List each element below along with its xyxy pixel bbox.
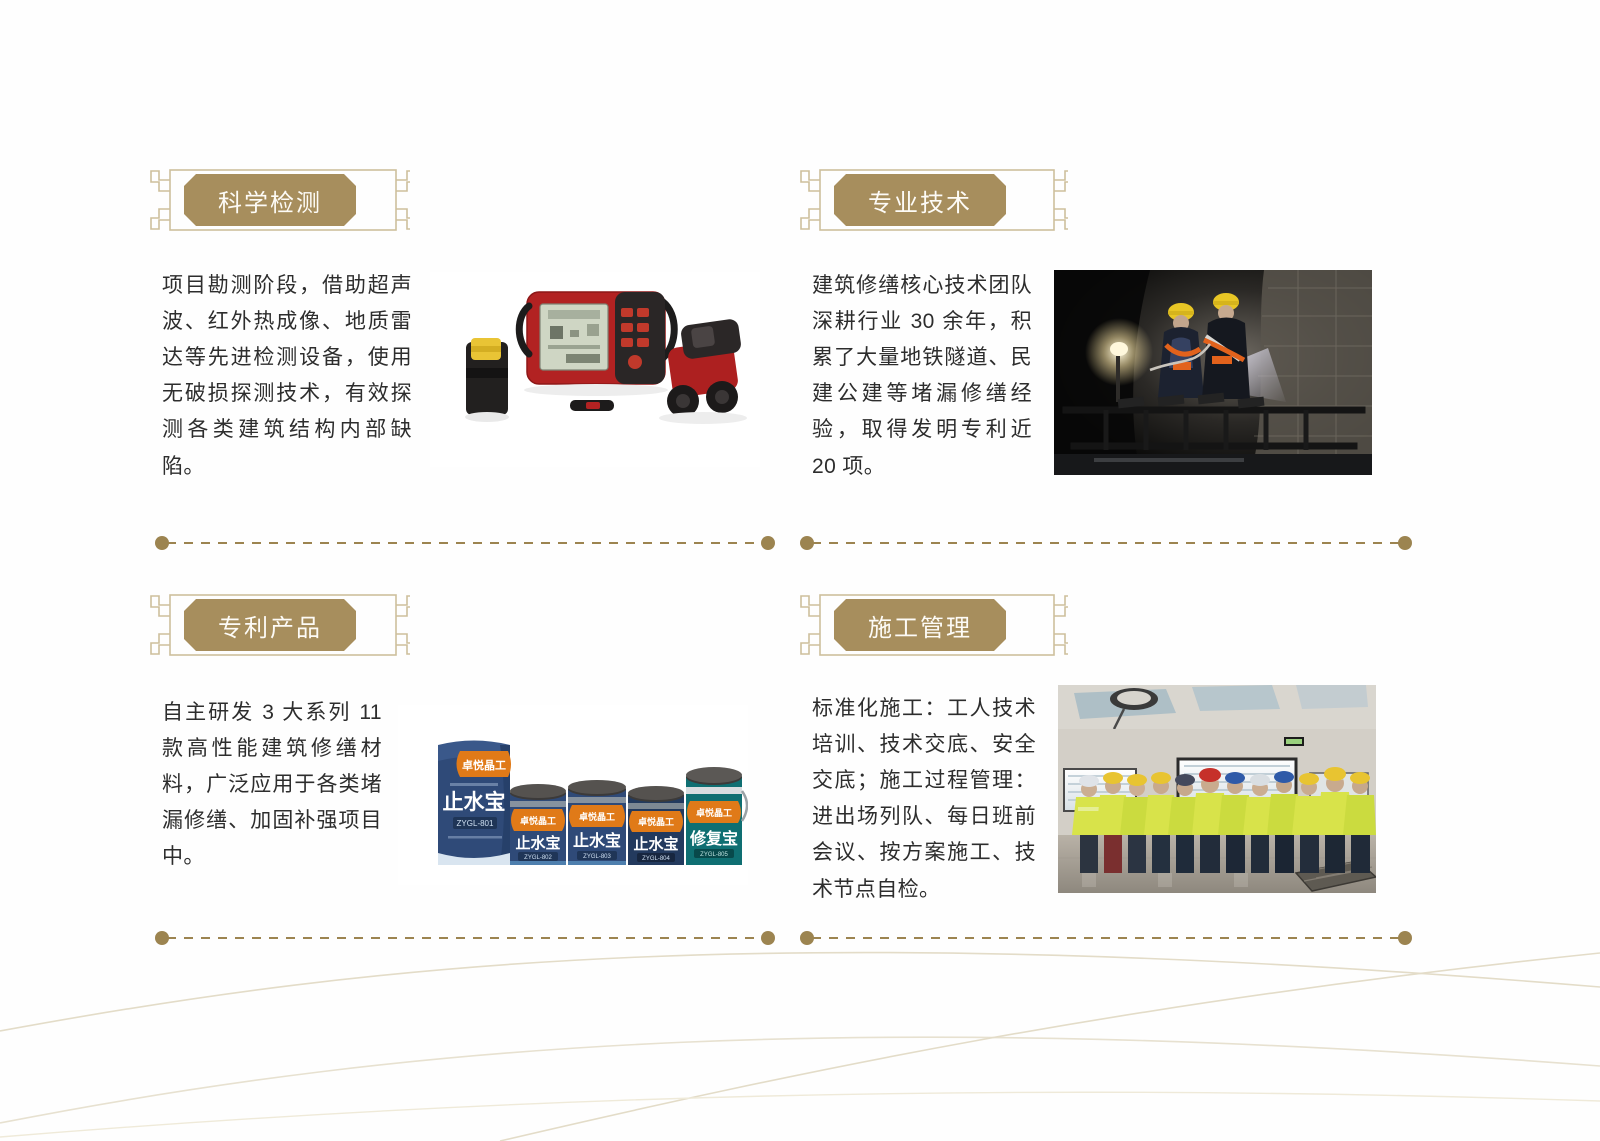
section-card-professional-technology: 专业技术 建筑修缮核心技术团队深耕行业 30 余年，积累了大量地铁隧道、民建公建… [800,160,1430,485]
svg-text:卓悦晶工: 卓悦晶工 [696,807,732,818]
section-header-patented-products: 专利产品 [150,585,780,665]
svg-text:止水宝: 止水宝 [633,835,678,853]
svg-text:ZYGL-805: ZYGL-805 [700,852,728,858]
svg-text:ZYGL-801: ZYGL-801 [457,819,494,828]
svg-text:卓悦晶工: 卓悦晶工 [520,815,556,826]
divider-dot-end [1398,931,1412,945]
divider-dot-end [761,931,775,945]
divider-dashes [167,937,763,939]
worker-lineup-photo [1058,685,1376,893]
svg-text:ZYGL-803: ZYGL-803 [583,854,611,860]
section-content-professional-technology: 建筑修缮核心技术团队深耕行业 30 余年，积累了大量地铁隧道、民建公建等堵漏修缮… [800,250,1430,485]
page-root: 科学检测 项目勘测阶段，借助超声波、红外热成像、地质雷达等先进检测设备，使用无破… [0,0,1600,1141]
svg-text:卓悦晶工: 卓悦晶工 [579,811,615,822]
section-divider [155,536,775,550]
section-card-patented-products: 专利产品 自主研发 3 大系列 11 款高性能建筑修缮材料，广泛应用于各类堵漏修… [150,585,780,885]
section-title-professional-technology: 专业技术 [834,174,1006,226]
section-description-patented-products: 自主研发 3 大系列 11 款高性能建筑修缮材料，广泛应用于各类堵漏修缮、加固补… [150,675,382,876]
section-card-construction-management: 施工管理 标准化施工：工人技术培训、技术交底、安全交底；施工过程管理：进出场列队… [800,585,1430,908]
section-description-professional-technology: 建筑修缮核心技术团队深耕行业 30 余年，积累了大量地铁隧道、民建公建等堵漏修缮… [800,250,1032,485]
section-content-scientific-detection: 项目勘测阶段，借助超声波、红外热成像、地质雷达等先进检测设备，使用无破损探测技术… [150,250,780,485]
section-divider [800,536,1412,550]
product-pail-zygl-804: 卓悦晶工 止水宝 ZYGL-804 [628,786,684,865]
svg-text:止水宝: 止水宝 [443,790,506,814]
product-pail-zygl-803: 卓悦晶工 止水宝 ZYGL-803 [568,780,626,865]
svg-text:卓悦晶工: 卓悦晶工 [638,816,674,827]
section-card-scientific-detection: 科学检测 项目勘测阶段，借助超声波、红外热成像、地质雷达等先进检测设备，使用无破… [150,160,780,485]
section-title-construction-management: 施工管理 [834,599,1006,651]
divider-dashes [812,937,1400,939]
svg-text:止水宝: 止水宝 [573,831,621,850]
section-description-construction-management: 标准化施工：工人技术培训、技术交底、安全交底；施工过程管理：进出场列队、每日班前… [800,675,1036,908]
product-bag-zygl-801: 卓悦晶工 止水宝 ZYGL-801 [438,741,511,866]
divider-dashes [167,542,763,544]
section-header-construction-management: 施工管理 [800,585,1430,665]
svg-text:ZYGL-802: ZYGL-802 [524,855,552,861]
section-title-scientific-detection: 科学检测 [184,174,356,226]
section-divider [155,931,775,945]
section-content-patented-products: 自主研发 3 大系列 11 款高性能建筑修缮材料，广泛应用于各类堵漏修缮、加固补… [150,675,780,885]
section-description-scientific-detection: 项目勘测阶段，借助超声波、红外热成像、地质雷达等先进检测设备，使用无破损探测技术… [150,250,412,485]
divider-dot-end [761,536,775,550]
section-header-professional-technology: 专业技术 [800,160,1430,240]
svg-text:卓悦晶工: 卓悦晶工 [462,758,506,772]
tunnel-construction-photo [1054,270,1372,475]
product-pail-zygl-802: 卓悦晶工 止水宝 ZYGL-802 [510,784,566,865]
section-header-scientific-detection: 科学检测 [150,160,780,240]
detection-equipment-photo [430,272,760,467]
svg-text:ZYGL-804: ZYGL-804 [642,856,670,862]
svg-text:止水宝: 止水宝 [515,834,560,852]
product-lineup-photo: 卓悦晶工 止水宝 ZYGL-801 [398,705,748,885]
divider-dot-end [1398,536,1412,550]
section-title-patented-products: 专利产品 [184,599,356,651]
product-pail-zygl-805: 卓悦晶工 修复宝 ZYGL-805 [686,767,747,865]
decorative-curves [0,891,1600,1141]
section-content-construction-management: 标准化施工：工人技术培训、技术交底、安全交底；施工过程管理：进出场列队、每日班前… [800,675,1430,908]
svg-text:修复宝: 修复宝 [689,829,738,848]
divider-dashes [812,542,1400,544]
section-divider [800,931,1412,945]
